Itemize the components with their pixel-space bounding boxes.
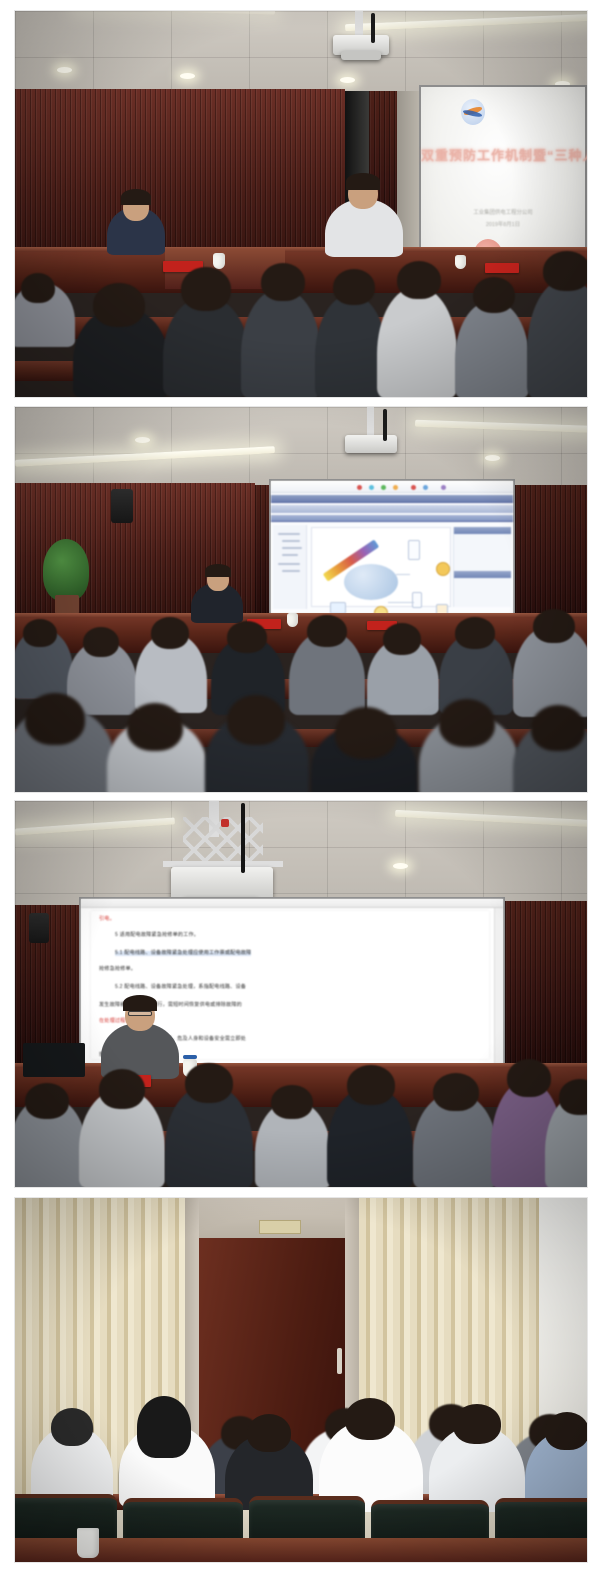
audience-head (455, 617, 495, 649)
audience-head (99, 1069, 145, 1109)
slide-date: 2019年8月1日 (421, 221, 585, 230)
downlight (340, 77, 355, 83)
audience-head (25, 1083, 69, 1119)
wall-speaker (111, 489, 133, 523)
tea-cup (287, 613, 298, 627)
tree-panel[interactable] (273, 525, 307, 609)
toolbar-secondary[interactable] (271, 505, 513, 513)
ceiling-projector (345, 435, 397, 453)
audience-head (185, 1063, 233, 1103)
photo-2 (14, 406, 588, 793)
photo-1: 双重预防工作机制暨“三种人”培训 工业集团供电工程分公司 2019年8月1日 (14, 10, 588, 398)
projector-arm (355, 11, 363, 37)
official-left-hair (121, 189, 151, 205)
speaker-hair (123, 995, 157, 1011)
tea-cup (213, 253, 225, 269)
potted-plant (43, 539, 89, 601)
downlight (393, 863, 408, 869)
audience-head (227, 695, 285, 745)
document-toolbar[interactable] (81, 899, 503, 908)
audience-head (473, 277, 515, 313)
audience-member (163, 297, 249, 397)
audience-head (307, 615, 347, 647)
audience-head (261, 263, 305, 301)
document-scrollbar[interactable] (494, 908, 503, 1071)
audience-member (241, 289, 321, 397)
photo-gallery-page: 双重预防工作机制暨“三种人”培训 工业集团供电工程分公司 2019年8月1日 (0, 0, 600, 1573)
projector-arm (367, 407, 374, 437)
doc-line: 引电。 (99, 917, 115, 922)
slide-org: 工业集团供电工程分公司 (421, 209, 585, 218)
trainee-head (545, 1412, 587, 1450)
audience-member (527, 279, 587, 397)
door-handle (337, 1348, 342, 1374)
projector-cable (383, 409, 387, 441)
wood-wall-right (505, 901, 587, 1071)
nameplate (485, 263, 519, 273)
doc-line: 5.2 配电线路、设备故障紧急处理，系指配电线路、设备 (115, 985, 246, 990)
photo-3: 引电。 5 适用配电故障紧急抢修单的工作。 5.1 配电线路、设备故障紧急处理应… (14, 800, 588, 1188)
doc-line: 抢修急抢修单。 (99, 967, 136, 972)
cable-clip (221, 819, 229, 827)
downlight (485, 455, 500, 461)
photo-4 (14, 1197, 588, 1563)
trainee-head (51, 1408, 93, 1446)
audience-head (439, 699, 495, 747)
audience-head (531, 705, 585, 751)
audience-head (533, 609, 575, 643)
tea-cup-lid (183, 1055, 197, 1059)
doc-line: 发生故障被迫紧急停止运行，需短时间恢复供电或排除故障的 (99, 1003, 242, 1008)
eyeglasses (128, 1011, 152, 1016)
downlight (57, 67, 72, 73)
audience-head (23, 619, 57, 647)
audience-head (25, 693, 85, 745)
audience-head (347, 1065, 395, 1105)
audience-head (433, 1073, 479, 1111)
front-desk (15, 1538, 587, 1562)
door-sign (259, 1220, 301, 1234)
audience-head (151, 617, 189, 649)
audience-head (21, 273, 55, 303)
connector (388, 602, 414, 603)
wall-seam (255, 485, 269, 619)
downlight (180, 73, 195, 79)
connector (396, 574, 410, 575)
audience-head (543, 251, 587, 291)
trainee-long-hair (137, 1396, 191, 1458)
tea-cup (455, 255, 466, 269)
doc-line: 5.1 配电线路、设备故障紧急处理应使用工作票或配电故障 (115, 951, 251, 956)
audience-head (559, 1079, 587, 1115)
node-box (412, 592, 422, 608)
ribbon-toolbar[interactable] (271, 481, 513, 493)
gear-node (436, 562, 450, 576)
audience-head (83, 627, 119, 657)
doc-line: 5 适用配电故障紧急抢修单的工作。 (115, 933, 199, 938)
downlight (135, 437, 150, 443)
company-oval-logo (461, 99, 485, 125)
audience-head (397, 261, 441, 299)
projection-screen (269, 479, 515, 615)
audience-head (181, 267, 231, 311)
instructor-hair (205, 564, 231, 577)
properties-panel[interactable] (453, 527, 511, 607)
projector-base (341, 51, 381, 60)
ceiling-projector (171, 867, 273, 901)
slide-title: 双重预防工作机制暨“三种人”培训 (421, 145, 585, 164)
cloud-shape (344, 564, 398, 600)
audience-head (383, 623, 421, 655)
trainee-head (345, 1398, 395, 1440)
audience-head (127, 703, 183, 751)
audience-head (93, 283, 145, 327)
application-window (271, 481, 513, 613)
audience-member (377, 287, 457, 397)
breadcrumb-bar (271, 515, 513, 522)
audience-head (335, 707, 397, 759)
projector-cable (241, 803, 245, 873)
audience-head (507, 1059, 551, 1097)
laptop (23, 1043, 85, 1077)
trainee-head (453, 1404, 501, 1444)
audience-head (333, 269, 375, 305)
official-right-hair (346, 173, 380, 190)
audience-head (227, 621, 267, 653)
audience-head (271, 1085, 313, 1119)
node-box (408, 540, 420, 560)
trainee-head (247, 1414, 291, 1452)
projector-cable (371, 13, 375, 43)
menu-bar[interactable] (271, 495, 513, 503)
wall-speaker (29, 913, 49, 943)
paper-cup (77, 1528, 99, 1558)
audience-member (455, 301, 529, 397)
diagram-canvas[interactable] (311, 527, 451, 607)
